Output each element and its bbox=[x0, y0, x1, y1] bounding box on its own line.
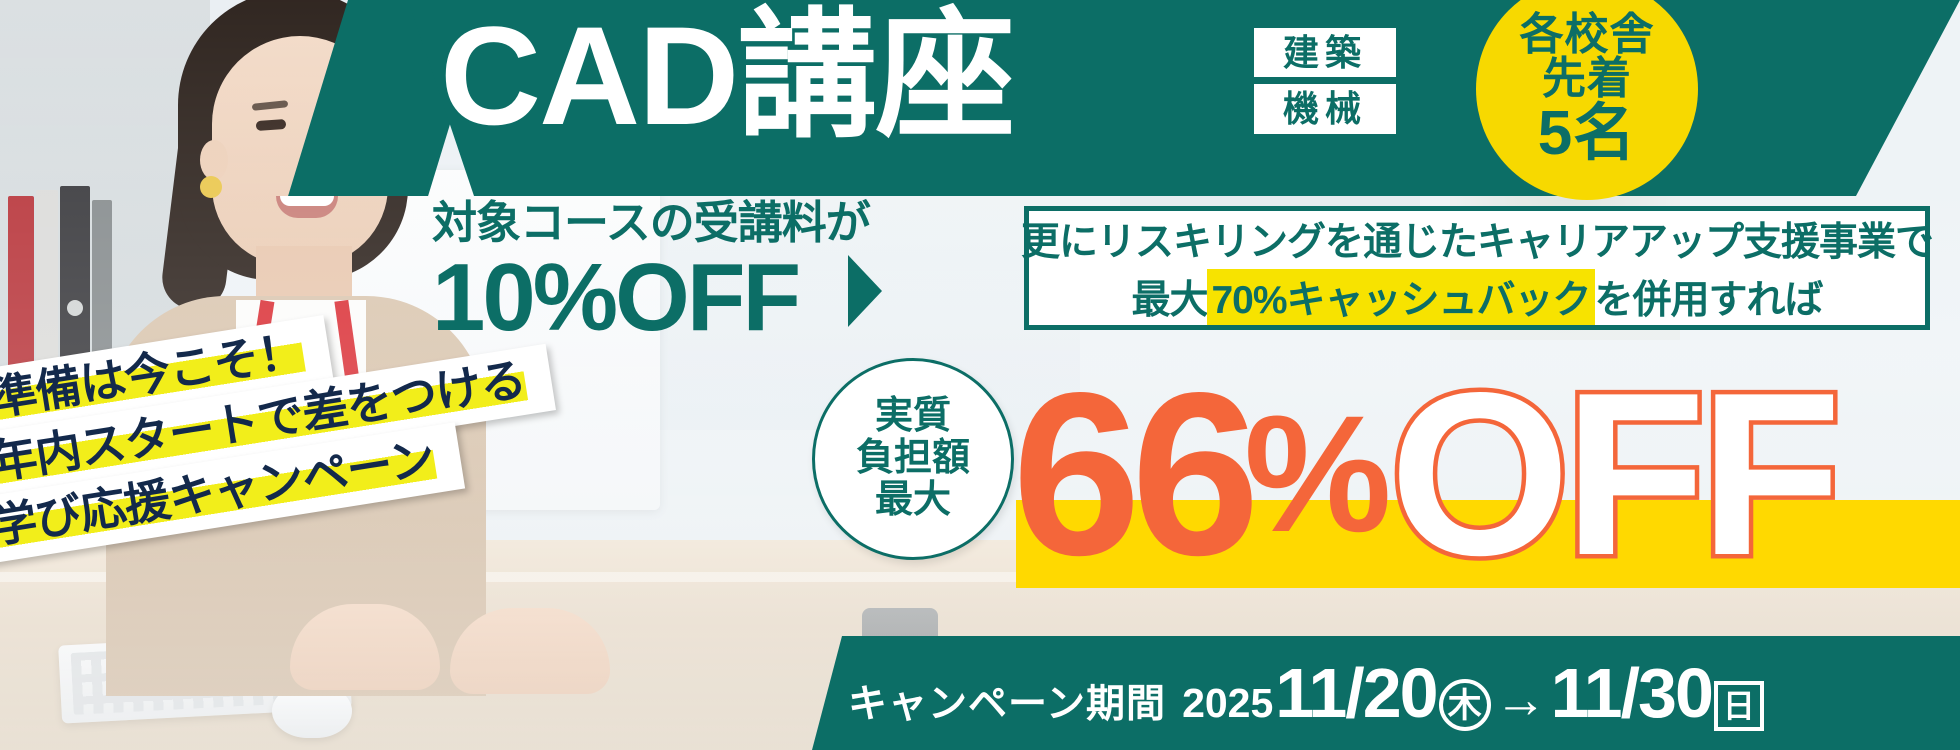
base-discount-block: 対象コースの受講料が 10%OFF bbox=[432, 198, 852, 346]
field-badge-architecture: 建築 bbox=[1254, 28, 1396, 77]
discount-amount: 10%OFF bbox=[432, 250, 852, 346]
date-range-arrow-icon: → bbox=[1495, 670, 1547, 730]
field-badge-mechanical: 機械 bbox=[1254, 84, 1396, 133]
header-corner-notch bbox=[1842, 0, 1960, 196]
page-title: CAD講座 bbox=[440, 6, 1013, 146]
reskilling-line2: 最大 70%キャッシュバック を併用すれば bbox=[1131, 269, 1822, 325]
campaign-start-dayofweek: 木 bbox=[1439, 679, 1491, 731]
final-offer-number: 66 bbox=[1012, 359, 1250, 591]
seats-badge-line1: 各校舎 bbox=[1520, 13, 1655, 58]
cad-course-campaign-banner: CAD講座 建築 機械 各校舎 先着 5名 対象コースの受講料が 10%OFF … bbox=[0, 0, 1960, 750]
campaign-period-label: キャンペーン期間 bbox=[848, 673, 1166, 729]
reskilling-line1: 更にリスキリングを通じたキャリアアップ支援事業で bbox=[1021, 211, 1933, 267]
reskilling-info-box: 更にリスキリングを通じたキャリアアップ支援事業で 最大 70%キャッシュバック … bbox=[1024, 206, 1930, 330]
net-cost-line2: 負担額 bbox=[856, 438, 970, 480]
final-offer-word: OFF bbox=[1390, 359, 1836, 591]
discount-lead-text: 対象コースの受講料が bbox=[432, 198, 852, 248]
campaign-start-date: 11/20 bbox=[1275, 653, 1436, 733]
campaign-period-text: キャンペーン期間 2025 11/20 木 → 11/30 日 bbox=[812, 653, 1766, 733]
campaign-end-dayofweek: 日 bbox=[1714, 681, 1764, 731]
field-badge-group: 建築 機械 bbox=[1254, 28, 1396, 134]
net-cost-line3: 最大 bbox=[875, 480, 951, 522]
campaign-period-bar: キャンペーン期間 2025 11/20 木 → 11/30 日 bbox=[812, 636, 1960, 750]
final-offer-block: 66 % OFF bbox=[1012, 350, 1960, 600]
campaign-end-date: 11/30 bbox=[1551, 653, 1712, 733]
net-cost-line1: 実質 bbox=[875, 396, 951, 438]
reskilling-line2-prefix: 最大 bbox=[1131, 269, 1207, 325]
seats-badge-line3: 5名 bbox=[1538, 102, 1636, 165]
campaign-year: 2025 bbox=[1182, 680, 1273, 727]
arrow-right-icon bbox=[848, 255, 882, 327]
reskilling-line2-suffix: を併用すれば bbox=[1595, 269, 1823, 325]
seats-badge-line2: 先着 bbox=[1542, 57, 1632, 102]
final-offer-percent: % bbox=[1244, 392, 1386, 558]
net-cost-badge: 実質 負担額 最大 bbox=[812, 358, 1014, 560]
cashback-highlight: 70%キャッシュバック bbox=[1207, 269, 1594, 325]
